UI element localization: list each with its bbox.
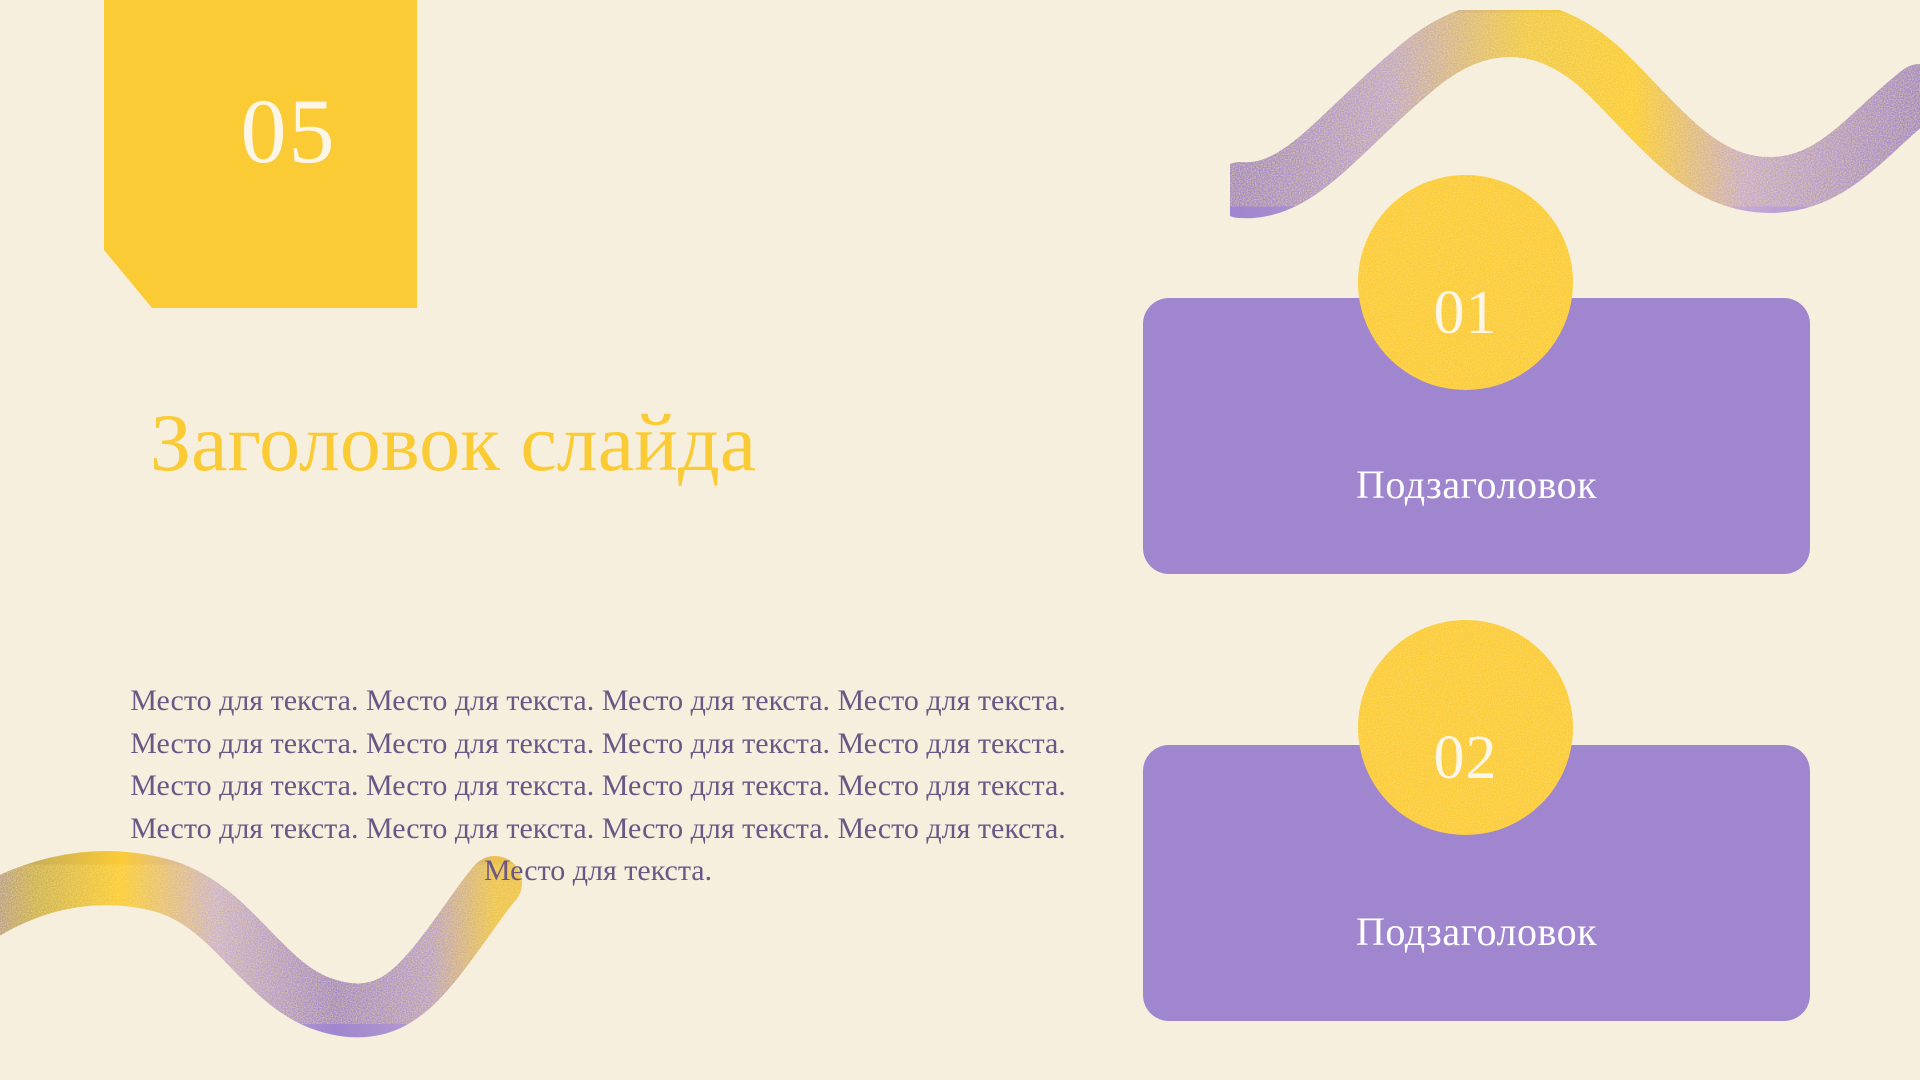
- subtitle-card-label: Подзаголовок: [1356, 461, 1597, 508]
- number-circle-text: 01: [1434, 282, 1498, 344]
- number-circle-02: 02: [1358, 620, 1573, 835]
- slide-number-badge: 05: [104, 0, 417, 308]
- body-paragraph: Место для текста. Место для текста. Мест…: [108, 680, 1088, 893]
- number-circle-text: 02: [1434, 727, 1498, 789]
- slide-canvas: 05 Заголовок слайда Место для текста. Ме…: [0, 0, 1920, 1080]
- slide-number-text: 05: [241, 85, 337, 177]
- number-circle-01: 01: [1358, 175, 1573, 390]
- page-title: Заголовок слайда: [150, 400, 1090, 486]
- subtitle-card-label: Подзаголовок: [1356, 908, 1597, 955]
- wave-decoration-top: [1230, 10, 1920, 230]
